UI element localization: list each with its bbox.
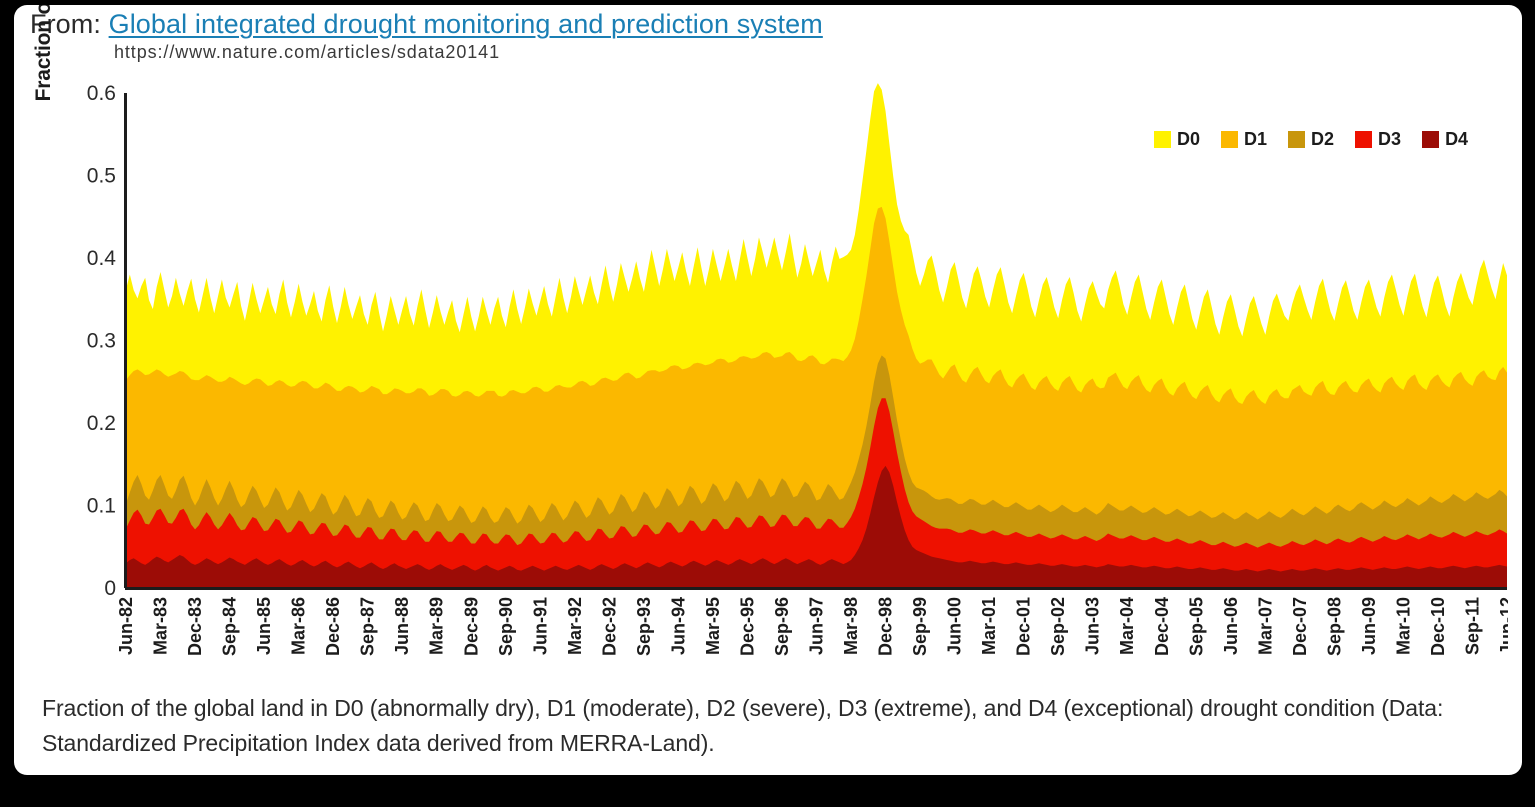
legend-swatch-d3-icon xyxy=(1355,131,1372,148)
x-tick-label: Jun-00 xyxy=(945,597,965,655)
y-tick-label: 0.2 xyxy=(87,412,116,435)
x-tick-label: Jun-85 xyxy=(254,597,274,655)
x-tick-label: Sep-84 xyxy=(220,597,240,656)
figure-caption: Fraction of the global land in D0 (abnor… xyxy=(42,691,1462,761)
x-tick-label: Sep-99 xyxy=(910,597,930,656)
paper-link[interactable]: Global integrated drought monitoring and… xyxy=(109,9,823,39)
x-tick-label: Dec-86 xyxy=(323,597,343,656)
x-tick-label: Sep-08 xyxy=(1324,597,1344,656)
x-tick-label: Sep-05 xyxy=(1186,597,1206,656)
x-tick-label: Dec-98 xyxy=(876,597,896,656)
x-tick-label: Dec-01 xyxy=(1014,597,1034,656)
x-tick-label: Mar-04 xyxy=(1117,597,1137,655)
x-tick-label: Dec-95 xyxy=(737,597,757,656)
x-tick-label: Sep-02 xyxy=(1048,597,1068,656)
x-tick-label: Jun-88 xyxy=(392,597,412,655)
x-tick-label: Jun-91 xyxy=(530,597,550,655)
legend-label: D4 xyxy=(1445,129,1468,150)
x-tick-label: Sep-87 xyxy=(358,597,378,656)
y-tick-label: 0 xyxy=(104,577,116,600)
x-tick-label: Jun-94 xyxy=(668,597,688,655)
legend-item-d4[interactable]: D4 xyxy=(1422,129,1468,150)
legend-label: D0 xyxy=(1177,129,1200,150)
x-tick-label: Mar-98 xyxy=(841,597,861,655)
y-tick-label: 0.1 xyxy=(87,495,116,518)
stacked-areas xyxy=(126,83,1507,588)
legend-item-d0[interactable]: D0 xyxy=(1154,129,1200,150)
x-tick-label: Jun-12 xyxy=(1497,597,1508,655)
x-tick-label: Mar-95 xyxy=(703,597,723,655)
x-tick-label: Mar-07 xyxy=(1255,597,1275,655)
x-tick-label: Dec-83 xyxy=(185,597,205,656)
legend-label: D3 xyxy=(1378,129,1401,150)
x-tick-label: Mar-89 xyxy=(427,597,447,655)
from-line: From: Global integrated drought monitori… xyxy=(30,9,1500,40)
legend-item-d3[interactable]: D3 xyxy=(1355,129,1401,150)
x-tick-labels: Jun-82Mar-83Dec-83Sep-84Jun-85Mar-86Dec-… xyxy=(116,597,1508,656)
x-tick-label: Mar-92 xyxy=(565,597,585,655)
legend-label: D2 xyxy=(1311,129,1334,150)
legend-swatch-d0-icon xyxy=(1154,131,1171,148)
x-tick-label: Jun-06 xyxy=(1221,597,1241,655)
y-tick-labels: 00.10.20.30.40.50.6 xyxy=(87,82,117,600)
legend-swatch-d2-icon xyxy=(1288,131,1305,148)
chart-legend: D0D1D2D3D4 xyxy=(1154,129,1468,150)
source-url[interactable]: https://www.nature.com/articles/sdata201… xyxy=(114,42,1500,63)
legend-item-d1[interactable]: D1 xyxy=(1221,129,1267,150)
x-tick-label: Dec-10 xyxy=(1428,597,1448,656)
y-tick-label: 0.5 xyxy=(87,165,116,188)
x-tick-label: Mar-86 xyxy=(289,597,309,655)
x-tick-label: Dec-89 xyxy=(461,597,481,656)
slide-card: From: Global integrated drought monitori… xyxy=(14,5,1522,775)
x-tick-label: Jun-09 xyxy=(1359,597,1379,655)
x-tick-label: Sep-90 xyxy=(496,597,516,656)
drought-area-chart: 00.10.20.30.40.50.6 Jun-82Mar-83Dec-83Se… xyxy=(30,79,1508,679)
legend-label: D1 xyxy=(1244,129,1267,150)
x-tick-label: Dec-92 xyxy=(599,597,619,656)
x-tick-label: Sep-96 xyxy=(772,597,792,656)
y-tick-label: 0.3 xyxy=(87,330,116,353)
chart-svg: 00.10.20.30.40.50.6 Jun-82Mar-83Dec-83Se… xyxy=(30,79,1508,679)
y-tick-label: 0.6 xyxy=(87,82,116,105)
x-tick-label: Sep-11 xyxy=(1462,597,1482,655)
legend-swatch-d1-icon xyxy=(1221,131,1238,148)
x-tick-label: Mar-83 xyxy=(151,597,171,655)
x-tick-label: Jun-82 xyxy=(116,597,136,655)
x-tick-label: Mar-01 xyxy=(979,597,999,655)
legend-item-d2[interactable]: D2 xyxy=(1288,129,1334,150)
x-tick-label: Sep-93 xyxy=(634,597,654,656)
x-tick-label: Dec-07 xyxy=(1290,597,1310,656)
source-header: From: Global integrated drought monitori… xyxy=(30,9,1500,63)
x-tick-label: Jun-97 xyxy=(807,597,827,655)
x-tick-label: Jun-03 xyxy=(1083,597,1103,655)
x-tick-label: Mar-10 xyxy=(1393,597,1413,655)
y-tick-label: 0.4 xyxy=(87,247,117,270)
x-tick-label: Dec-04 xyxy=(1152,597,1172,656)
legend-swatch-d4-icon xyxy=(1422,131,1439,148)
